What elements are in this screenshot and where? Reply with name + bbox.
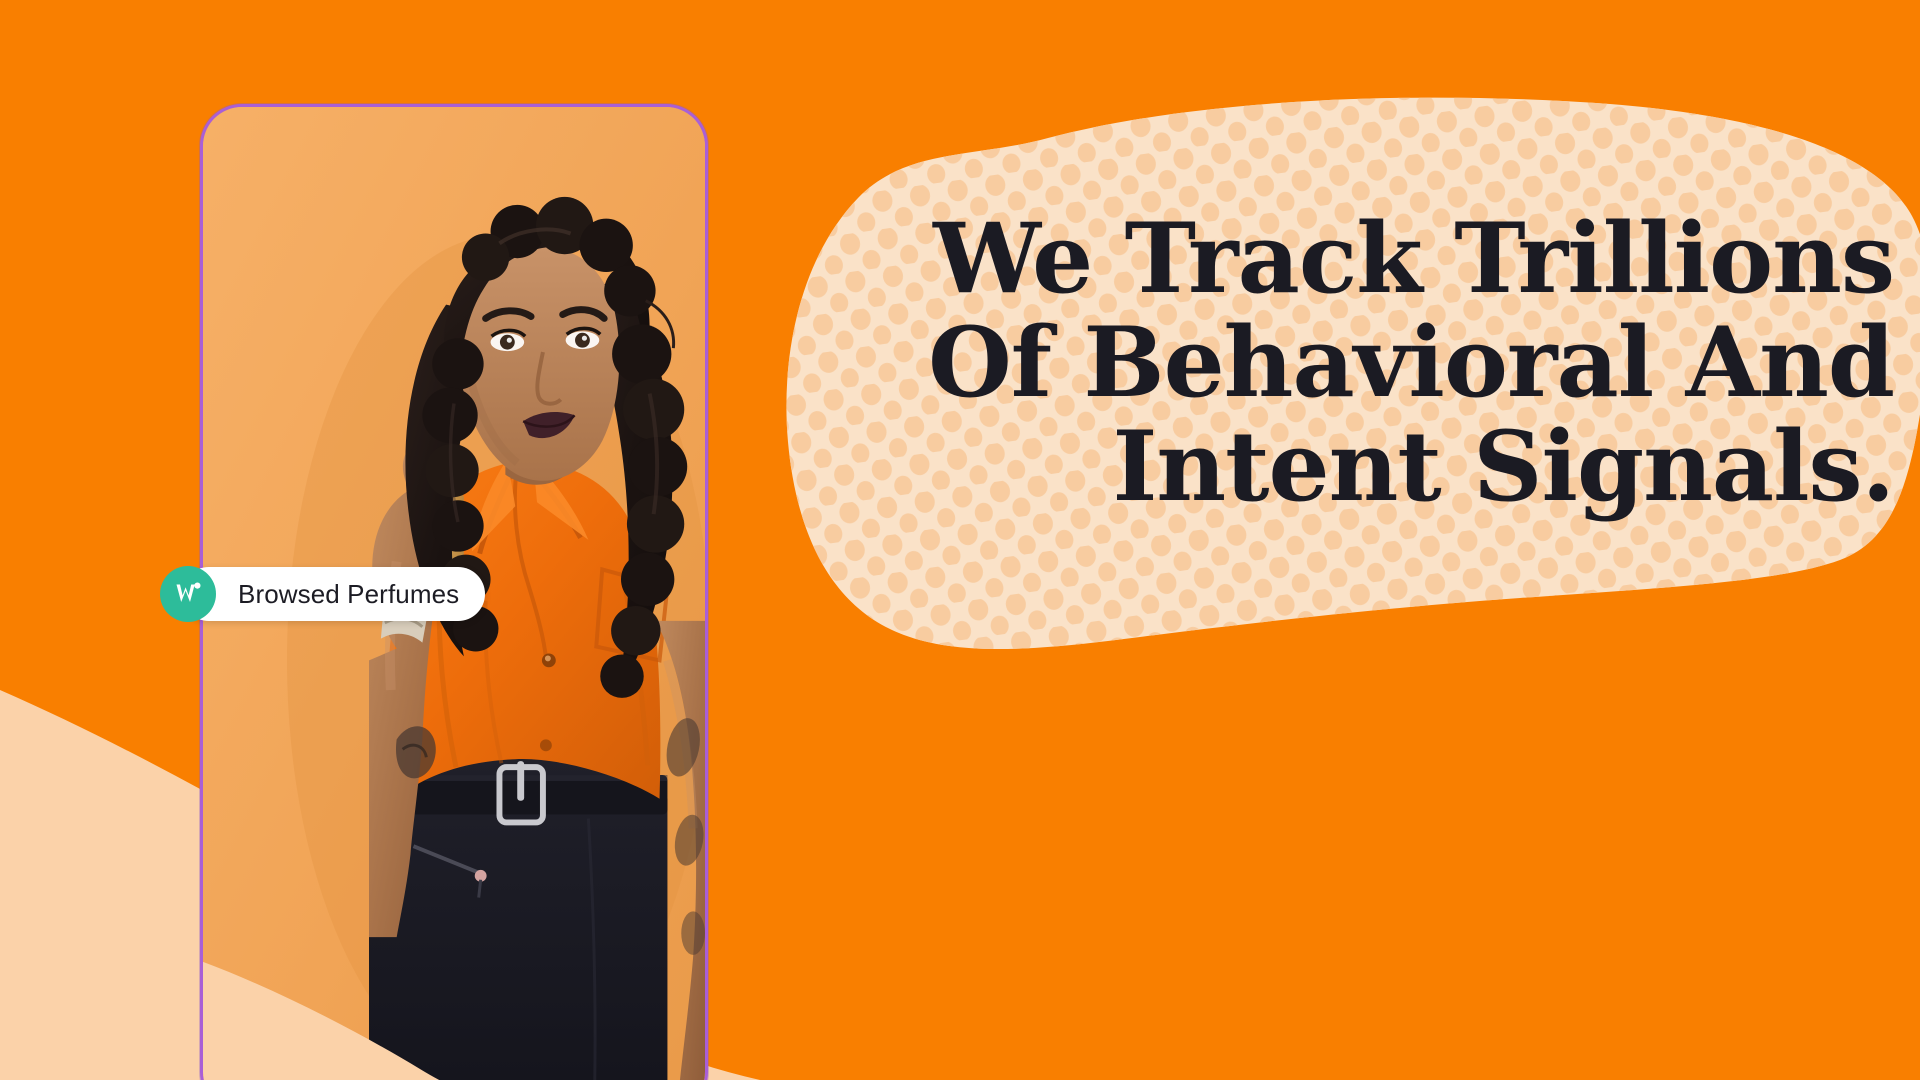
wunderkind-w-logo-icon <box>160 566 216 622</box>
browsed-perfumes-badge[interactable]: Browsed Perfumes <box>160 566 485 622</box>
headline-line-2: Of Behavioral And <box>790 314 1894 412</box>
badge-label: Browsed Perfumes <box>238 579 459 610</box>
headline-line-1: We Track Trillions <box>790 210 1894 308</box>
slide-canvas: Browsed Perfumes We Track Trillions Of B… <box>0 0 1920 1080</box>
badge-pill[interactable]: Browsed Perfumes <box>182 567 485 621</box>
headline-line-3: Intent Signals. <box>790 418 1894 516</box>
headline: We Track Trillions Of Behavioral And Int… <box>790 210 1920 516</box>
